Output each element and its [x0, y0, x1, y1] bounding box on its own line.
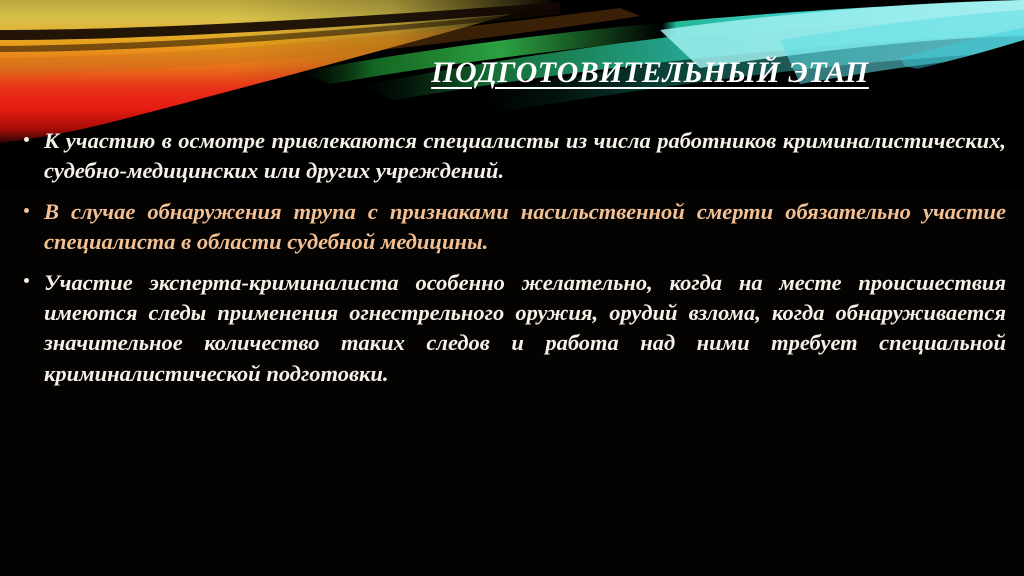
bullet-list: К участию в осмотре привлекаются специал…: [18, 126, 1006, 389]
bullet-dot-icon: [24, 137, 29, 142]
bullet-text: В случае обнаружения трупа с признаками …: [44, 197, 1006, 258]
bullet-dot-icon: [24, 208, 29, 213]
list-item: К участию в осмотре привлекаются специал…: [18, 126, 1006, 187]
bullet-dot-icon: [24, 278, 29, 283]
presentation-slide: ПОДГОТОВИТЕЛЬНЫЙ ЭТАП К участию в осмотр…: [0, 0, 1024, 576]
bullet-text: К участию в осмотре привлекаются специал…: [44, 126, 1006, 187]
bullet-text: Участие эксперта-криминалиста особенно ж…: [44, 268, 1006, 390]
dark-diagonal-band: [0, 2, 560, 40]
list-item: Участие эксперта-криминалиста особенно ж…: [18, 268, 1006, 390]
list-item: В случае обнаружения трупа с признаками …: [18, 197, 1006, 258]
slide-title: ПОДГОТОВИТЕЛЬНЫЙ ЭТАП: [300, 56, 1000, 90]
